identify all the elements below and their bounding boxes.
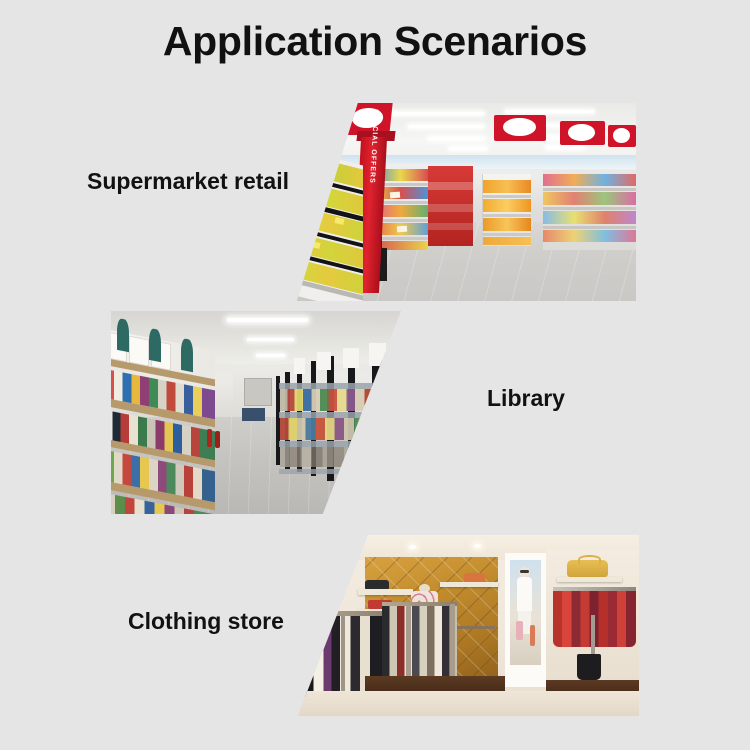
clothing-handbag-gold [567,560,608,576]
clothing-poster-image [510,560,541,665]
clothing-tile-floor [296,691,639,716]
clothing-handbag-black [365,580,389,589]
clothing-center-garments [382,606,457,682]
supermarket-price-tag [317,181,327,189]
page-title: Application Scenarios [0,18,750,65]
library-illustration [111,311,401,514]
application-scenarios-page: Application Scenarios Supermarket retail [0,0,750,750]
library-magazine-display [111,325,215,514]
scene-label-library: Library [487,385,565,412]
library-display-bracket [117,318,129,353]
clothing-yellow-top [320,586,337,599]
scene-label-supermarket: Supermarket retail [87,168,289,195]
supermarket-shelf-mid-red [428,166,473,245]
supermarket-offer-header-sign [347,103,392,135]
library-far-furniture [242,408,265,420]
supermarket-ceiling-sign-2 [560,121,605,145]
library-shelf-sign [369,343,386,365]
clothing-wall-shelf [358,589,413,594]
library-display-bracket [181,338,193,373]
clothing-wall-shelf [440,582,498,587]
library-shelf-sign [294,358,306,374]
clothing-rack-post [341,615,346,698]
clothing-right-shelf [557,577,622,582]
supermarket-price-tag [310,241,320,249]
scene-label-clothing: Clothing store [128,608,284,635]
scene-image-clothing [296,535,639,716]
library-far-window [244,378,272,406]
clothing-illustration [296,535,639,716]
library-fire-extinguisher [207,429,212,447]
supermarket-illustration: SPECIAL OFFERS [290,103,636,301]
clothing-handbag-orange [464,573,485,582]
supermarket-shelf-mid-right [482,174,531,245]
library-fire-extinguisher [215,431,220,448]
library-shelf-sign [317,352,332,370]
supermarket-shelf-far [543,170,636,249]
scene-image-library [111,311,401,514]
clothing-boots [577,654,601,679]
supermarket-ceiling-sign-3 [608,125,636,147]
library-bookstacks [276,356,401,494]
scene-image-supermarket: SPECIAL OFFERS [290,103,636,301]
supermarket-ceiling-sign-1 [494,115,546,141]
supermarket-price-tag [397,225,407,232]
supermarket-price-tag [390,192,400,199]
supermarket-endcap-shelf [297,149,363,301]
library-shelf-sign [343,348,359,368]
library-display-bracket [149,328,161,363]
